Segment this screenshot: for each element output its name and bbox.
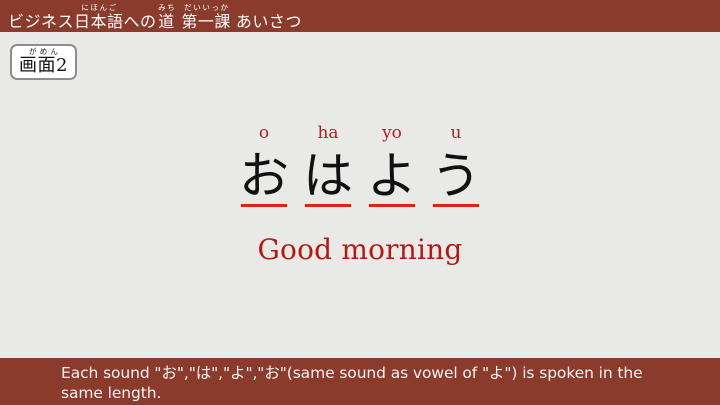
- kana-char-ha: は: [303, 151, 353, 202]
- kana-underline-u: [433, 204, 479, 207]
- lesson-content: o お ha は yo よ u う Good morning: [0, 120, 720, 266]
- romaji-u: u: [451, 120, 462, 142]
- kana-underline-o: [241, 204, 287, 207]
- title-segment-eno: への: [124, 14, 157, 31]
- title-segment-japanese: にほんご 日本語: [74, 4, 124, 31]
- title-bar: ビジネス にほんご 日本語 への みち 道 だいいっか 第一課 あいさつ: [0, 0, 720, 32]
- kana-char-u: う: [431, 151, 481, 202]
- kanji-daiikka: 第一課: [181, 14, 231, 31]
- romaji-yo: yo: [382, 120, 402, 142]
- screen-number-badge: がめん 画面2: [10, 44, 77, 80]
- kana-cell-ha: ha は: [303, 120, 353, 207]
- kana-char-o: お: [239, 151, 289, 202]
- subtitle-bar: Each sound "お","は","よ","お"(same sound as…: [0, 358, 720, 405]
- kana-cell-o: o お: [239, 120, 289, 207]
- subtitle-text: Each sound "お","は","よ","お"(same sound as…: [61, 364, 673, 404]
- lesson-title: ビジネス にほんご 日本語 への みち 道 だいいっか 第一課 あいさつ: [8, 4, 302, 31]
- title-segment-lesson-number: だいいっか 第一課: [181, 4, 231, 31]
- subtitle-line-1: Each sound "お","は","よ","お"(same sound as…: [61, 364, 594, 382]
- kana-char-yo: よ: [367, 151, 417, 202]
- kana-underline-ha: [305, 204, 351, 207]
- title-segment-business: ビジネス: [8, 14, 74, 31]
- kanji-nihongo: 日本語: [74, 14, 124, 31]
- title-segment-michi: みち 道: [157, 4, 177, 31]
- kana-cell-yo: yo よ: [367, 120, 417, 207]
- title-segment-aisatsu: あいさつ: [236, 14, 302, 31]
- romaji-ha: ha: [317, 120, 338, 142]
- kana-underline-yo: [369, 204, 415, 207]
- kana-cell-u: u う: [431, 120, 481, 207]
- screen-badge-label: 画面2: [19, 57, 68, 75]
- translation-text: Good morning: [257, 233, 462, 266]
- kana-row: o お ha は yo よ u う: [232, 120, 488, 207]
- romaji-o: o: [259, 120, 269, 142]
- kanji-michi: 道: [158, 14, 175, 31]
